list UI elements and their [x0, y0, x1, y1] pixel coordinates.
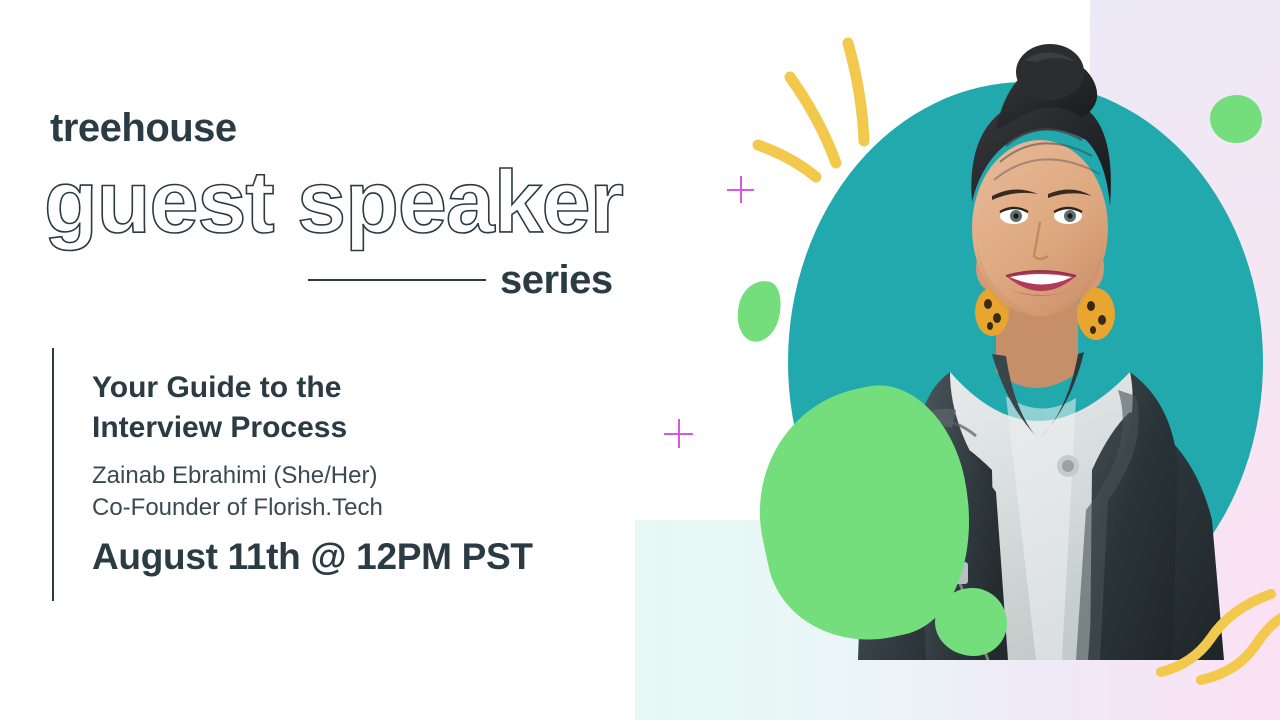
- promo-slide: treehouse guest speaker series Your Guid…: [0, 0, 1280, 720]
- speaker-role: Co-Founder of Florish.Tech: [92, 492, 572, 524]
- speaker-details: Zainab Ebrahimi (She/Her) Co-Founder of …: [92, 460, 572, 524]
- talk-title-line-2: Interview Process: [92, 408, 562, 448]
- plus-mark-icon-top: [727, 176, 754, 203]
- headline-outline-text: guest speaker: [44, 158, 623, 246]
- brand-wordmark: treehouse: [50, 108, 237, 148]
- talk-title-line-1: Your Guide to the: [92, 368, 562, 408]
- series-label: series: [500, 258, 613, 302]
- green-dot-shape-bottom: [935, 588, 1007, 656]
- green-blob-shape-small: [731, 276, 787, 346]
- speaker-name: Zainab Ebrahimi (She/Her): [92, 460, 572, 492]
- plus-mark-icon-middle: [664, 419, 693, 448]
- sunburst-lines-icon: [752, 35, 892, 185]
- vertical-accent-rule: [52, 348, 54, 601]
- series-row: series: [308, 258, 638, 306]
- event-datetime: August 11th @ 12PM PST: [92, 536, 533, 579]
- series-divider: [308, 279, 486, 281]
- talk-title: Your Guide to the Interview Process: [92, 368, 562, 447]
- wavy-lines-icon: [1145, 580, 1280, 690]
